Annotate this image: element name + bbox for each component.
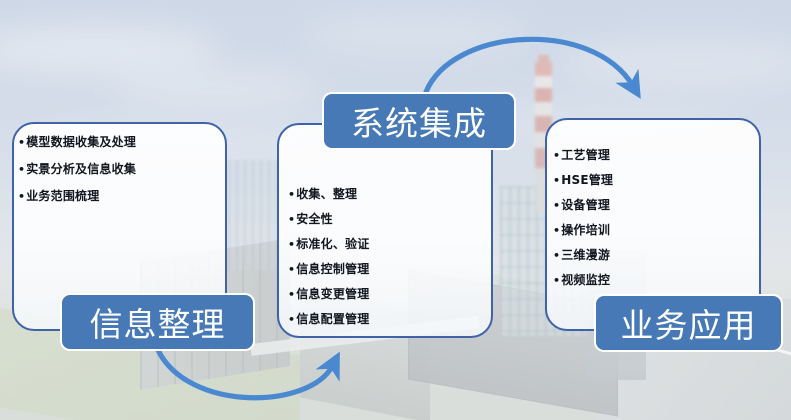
bullet-list-information-organizing: 模型数据收集及处理 实景分析及信息收集 业务范围梳理 xyxy=(18,136,136,217)
bullet-list-system-integration: 收集、整理 安全性 标准化、验证 信息控制管理 信息变更管理 信息配置管理 xyxy=(288,188,369,338)
list-item: 收集、整理 xyxy=(288,188,369,200)
list-item: 视频监控 xyxy=(553,274,613,286)
bullet-list-business-application: 工艺管理 HSE管理 设备管理 操作培训 三维漫游 视频监控 xyxy=(553,149,613,299)
stage-badge-system-integration: 系统集成 xyxy=(322,92,516,150)
list-item: 模型数据收集及处理 xyxy=(18,136,136,148)
stage-badge-information-organizing: 信息整理 xyxy=(60,293,255,351)
list-item: 操作培训 xyxy=(553,224,613,236)
stage-badge-business-application: 业务应用 xyxy=(594,294,783,352)
list-item: HSE管理 xyxy=(553,174,613,186)
list-item: 信息变更管理 xyxy=(288,288,369,300)
list-item: 安全性 xyxy=(288,213,369,225)
list-item: 实景分析及信息收集 xyxy=(18,163,136,175)
list-item: 标准化、验证 xyxy=(288,238,369,250)
list-item: 信息配置管理 xyxy=(288,313,369,325)
list-item: 信息控制管理 xyxy=(288,263,369,275)
list-item: 设备管理 xyxy=(553,199,613,211)
list-item: 工艺管理 xyxy=(553,149,613,161)
diagram-canvas: 模型数据收集及处理 实景分析及信息收集 业务范围梳理 收集、整理 安全性 标准化… xyxy=(0,0,791,420)
list-item: 三维漫游 xyxy=(553,249,613,261)
list-item: 业务范围梳理 xyxy=(18,190,136,202)
